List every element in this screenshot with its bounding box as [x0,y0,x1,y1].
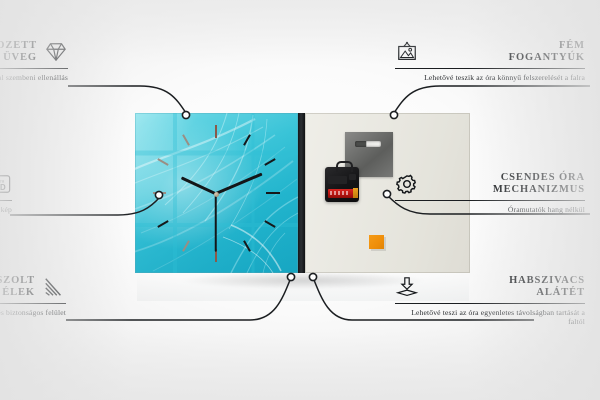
feature-title-line1: EDZETT [0,40,37,52]
clock-center-cap [214,192,219,197]
clock-tick [182,134,190,145]
clock-tick [243,240,251,251]
feature-description: Intenzív színek és éles kép [0,205,12,214]
mechanism-ridge-small [349,174,356,180]
clock-minute-hand [215,173,262,196]
feature-title-line2: ÜVEG [0,52,37,64]
feature-divider [0,200,12,201]
press-pad-arrow-icon [395,276,419,298]
feature-divider [0,303,66,304]
feature-title-line1: FÉM [426,40,585,52]
battery-positive-tip [353,188,358,198]
clock-tick [243,134,251,145]
feature-title-line2: MECHANIZMUS [426,184,585,196]
mechanism-ridge [328,176,347,184]
diamond-icon [44,41,68,63]
clock-second-hand [215,194,217,252]
infographic-canvas: EDZETT ÜVEG Repedésekkel és karcolásokka… [0,0,600,400]
feature-description: Óramutatók hang nélkül [395,205,585,214]
feature-divider [395,200,585,201]
polished-edges-icon [42,276,66,298]
clock-tick [153,192,166,194]
feature-description: Sima és biztonságos felület [0,308,66,317]
clock-mechanism-box [325,167,359,202]
feature-metal-handles: FÉM FOGANTYÚK Lehetővé teszik az óra kön… [395,40,585,82]
foam-spacer-pad [369,235,384,249]
feature-description: Lehetővé teszi az óra egyenletes távolsá… [395,308,585,327]
picture-frame-hanging-icon [395,41,419,63]
clock-tick [264,158,275,166]
hanger-slot [355,141,381,147]
mechanism-hanging-loop [336,161,353,172]
gear-icon [395,173,419,195]
feature-title-line1: CSENDES ÓRA [426,172,585,184]
connector-tempered-glass [68,86,186,113]
feature-title-line1: CSISZOLT [0,275,35,287]
feature-silent-mechanism: CSENDES ÓRA MECHANIZMUS Óramutatók hang … [395,172,585,214]
battery [328,189,356,198]
feature-divider [395,303,585,304]
feature-polished-edges: CSISZOLT ÉLEK Sima és biztonságos felüle… [0,275,66,317]
feature-title-line2: FOGANTYÚK [426,52,585,64]
ultra-hd-icon: ultra HD [0,173,12,195]
feature-foam-pad: HABSZIVACS ALÁTÉT Lehetővé teszi az óra … [395,275,585,327]
clock-side-edge [298,113,305,273]
feature-divider [395,68,585,69]
feature-high-quality-print: MAGAS MINŐSÉGŰ NYOMTATÁS ultra HD Intenz… [0,172,12,214]
clock-hour-hand [181,177,217,196]
feature-tempered-glass: EDZETT ÜVEG Repedésekkel és karcolásokka… [0,40,68,82]
feature-divider [0,68,68,69]
clock-tick [215,125,217,138]
feature-description: Lehetővé teszik az óra könnyű felszerelé… [395,73,585,82]
clock-tick [264,220,275,228]
feature-title-line1: HABSZIVACS [426,275,585,287]
feature-title-line2: ÉLEK [0,287,35,299]
feature-title-line2: ALÁTÉT [426,287,585,299]
connector-metal-handles [394,86,590,113]
clock-face [135,113,298,273]
battery-label [330,191,350,195]
clock-tick [157,220,168,228]
svg-text:HD: HD [0,183,6,192]
clock-tick [266,192,280,194]
feature-description: Repedésekkel és karcolásokkal szembeni e… [0,73,68,82]
clock-front-panel [135,113,298,273]
clock-tick [182,240,190,251]
clock-tick [157,158,168,166]
